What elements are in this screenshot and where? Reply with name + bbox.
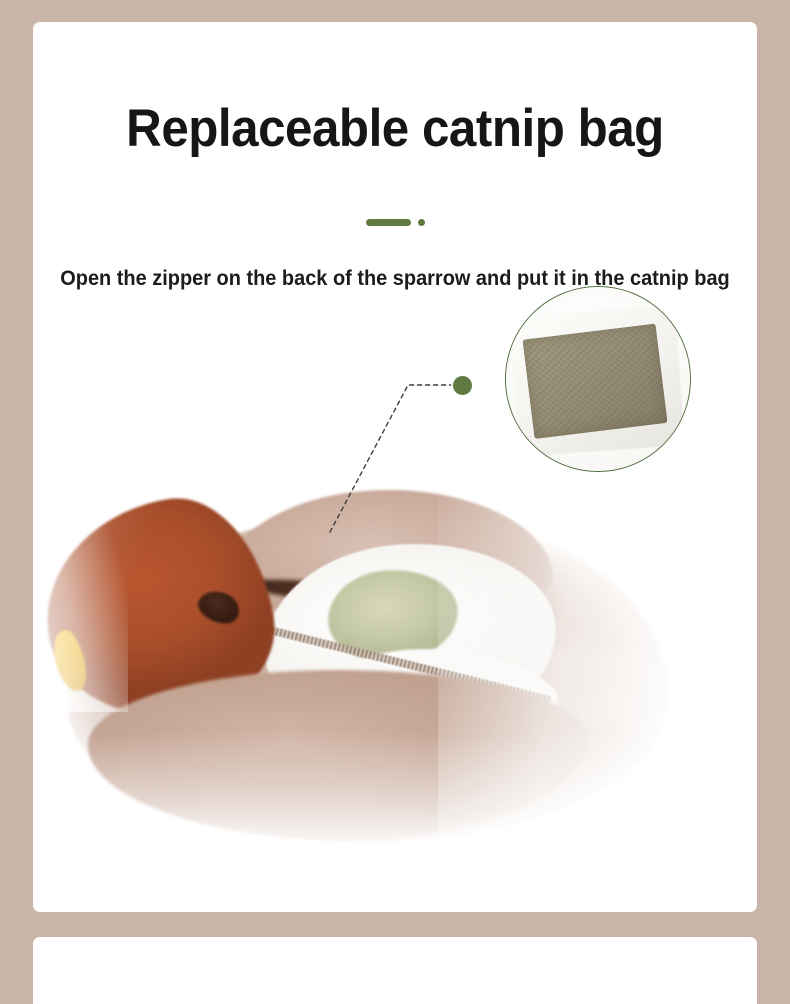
divider-ornament bbox=[33, 214, 757, 230]
catnip-sachet-closeup-inset bbox=[505, 286, 691, 472]
teabag-catnip-fill bbox=[522, 323, 667, 439]
catnip-teabag bbox=[516, 316, 679, 445]
divider-dot bbox=[418, 219, 425, 226]
plush-sparrow-toy bbox=[33, 482, 728, 862]
divider-bar bbox=[366, 219, 411, 226]
page-title: Replaceable catnip bag bbox=[58, 101, 731, 157]
callout-dot bbox=[453, 376, 472, 395]
next-section-card bbox=[33, 937, 757, 1004]
